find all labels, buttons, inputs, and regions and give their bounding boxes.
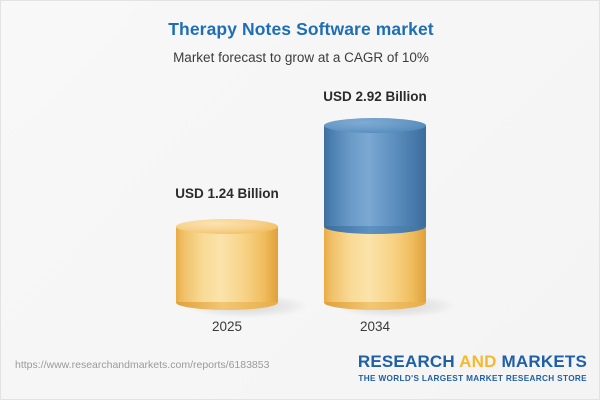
cylinder-2025[interactable] [176,219,278,314]
cylinder-top-cap [324,118,426,133]
segment-base-2034 [324,226,426,309]
logo-tagline: THE WORLD'S LARGEST MARKET RESEARCH STOR… [358,374,587,383]
cylinder-top-cap [176,219,278,234]
logo-and-text: AND [459,352,496,371]
bar-group-2034: USD 2.92 Billion 2034 [265,1,485,349]
plot-area: USD 1.24 Billion 2025 USD 2.92 Billion [1,1,600,349]
segment-base-2025 [176,226,278,309]
cylinder-body [176,226,278,302]
segment-growth-2034 [324,125,426,233]
chart-footer: https://www.researchandmarkets.com/repor… [1,347,600,399]
logo-markets-text: MARKETS [497,352,587,371]
value-label-2034: USD 2.92 Billion [265,89,485,104]
cylinder-body [324,226,426,302]
chart-figure: Therapy Notes Software market Market for… [0,0,600,400]
report-url[interactable]: https://www.researchandmarkets.com/repor… [15,359,269,371]
brand-logo[interactable]: RESEARCH AND MARKETS THE WORLD'S LARGEST… [358,352,587,383]
cylinder-2034[interactable] [324,118,426,314]
category-label-2034: 2034 [265,319,485,334]
cylinder-body [324,125,426,226]
logo-wordmark: RESEARCH AND MARKETS [358,352,587,372]
logo-research-text: RESEARCH [358,352,459,371]
